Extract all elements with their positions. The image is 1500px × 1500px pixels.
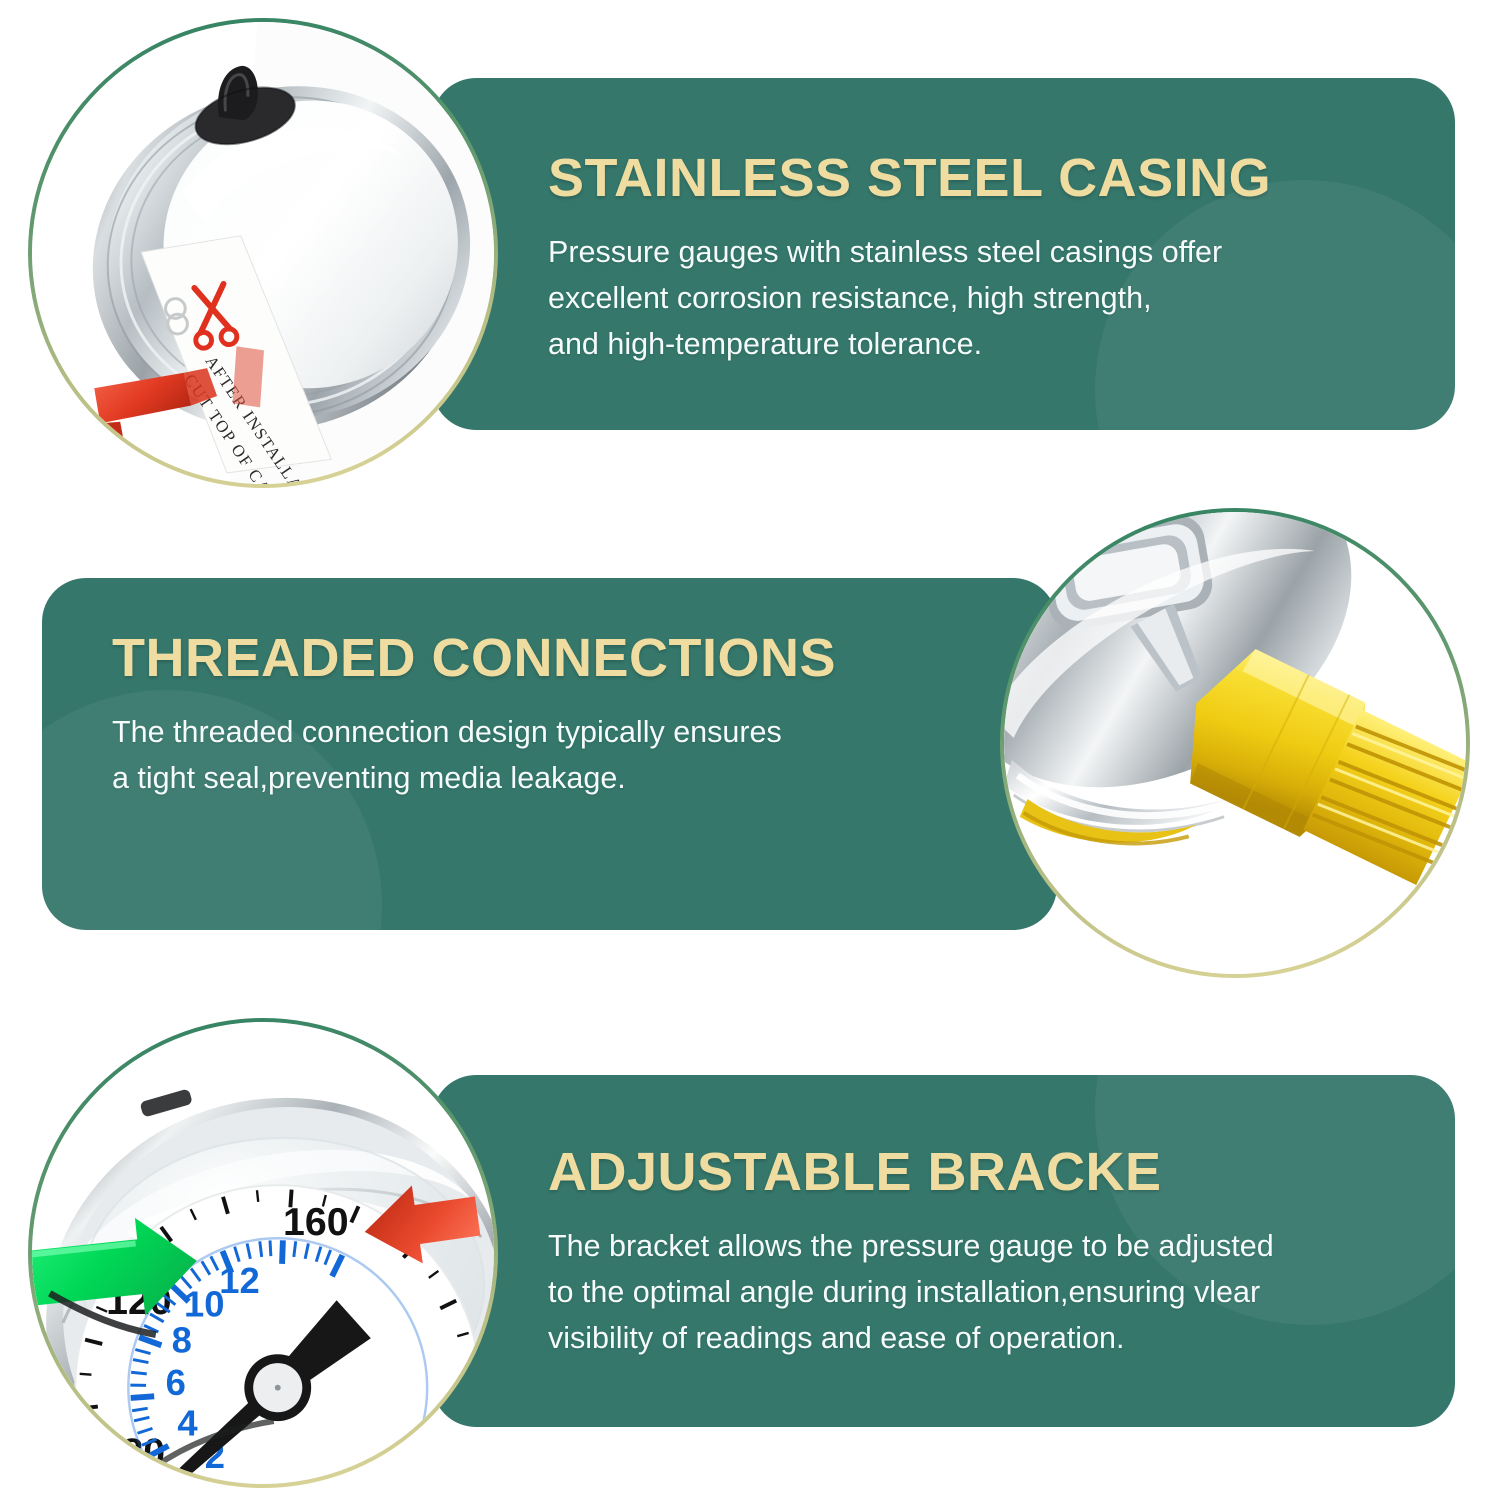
feature-image-adjustable-bracket: 80 120 160 (28, 1018, 498, 1488)
svg-text:6: 6 (166, 1362, 186, 1403)
feature-body-line: to the optimal angle during installation… (548, 1269, 1428, 1315)
feature-image-stainless-steel-casing: AFTER INSTALLA CUT TOP OF CA AFTER INSTA… (28, 18, 498, 488)
svg-text:160: 160 (283, 1200, 349, 1244)
svg-text:4: 4 (177, 1403, 198, 1444)
svg-text:12: 12 (219, 1260, 259, 1301)
feature-text-adjustable-bracket: ADJUSTABLE BRACKE The bracket allows the… (548, 1144, 1428, 1362)
feature-body-line: visibility of readings and ease of opera… (548, 1315, 1428, 1361)
feature-image-threaded-connections (1000, 508, 1470, 978)
feature-body: The threaded connection design typically… (112, 709, 992, 802)
feature-body-line: a tight seal,preventing media leakage. (112, 755, 992, 801)
feature-title: THREADED CONNECTIONS (112, 630, 992, 687)
gauge-dial-photo: 80 120 160 (32, 1022, 494, 1484)
feature-body: Pressure gauges with stainless steel cas… (548, 229, 1408, 368)
feature-text-threaded-connections: THREADED CONNECTIONS The threaded connec… (112, 630, 992, 801)
brass-thread-photo (1004, 512, 1466, 974)
feature-body-line: Pressure gauges with stainless steel cas… (548, 229, 1408, 275)
feature-text-stainless-steel-casing: STAINLESS STEEL CASING Pressure gauges w… (548, 150, 1408, 368)
feature-body-line: excellent corrosion resistance, high str… (548, 275, 1408, 321)
feature-body-line: The threaded connection design typically… (112, 709, 992, 755)
feature-title: ADJUSTABLE BRACKE (548, 1144, 1428, 1201)
infographic-stage: STAINLESS STEEL CASING Pressure gauges w… (0, 0, 1500, 1500)
feature-title: STAINLESS STEEL CASING (548, 150, 1408, 207)
feature-body-line: The bracket allows the pressure gauge to… (548, 1223, 1428, 1269)
feature-body-line: and high-temperature tolerance. (548, 321, 1408, 367)
feature-body: The bracket allows the pressure gauge to… (548, 1223, 1428, 1362)
gauge-casing-photo: AFTER INSTALLA CUT TOP OF CA AFTER INSTA… (32, 22, 494, 484)
svg-text:8: 8 (172, 1320, 192, 1361)
